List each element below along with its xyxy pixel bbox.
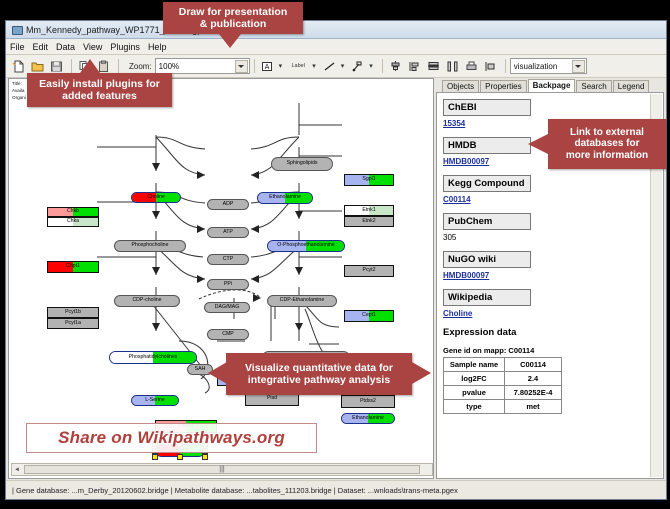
chevron-down-icon[interactable]: ▾ [341, 62, 345, 70]
print-icon[interactable] [463, 58, 480, 75]
metabolite-node-cdp-ethanolamine[interactable]: CDP-Ethanolamine [267, 295, 337, 307]
node-label: CMP [222, 332, 234, 337]
callout-links-arrow [528, 134, 548, 154]
line-tool-icon[interactable] [321, 58, 338, 75]
tab-properties[interactable]: Properties [480, 80, 526, 92]
pathway-canvas-panel[interactable]: Title: Availa Organi SphingolipidsCholin… [8, 78, 434, 479]
node-label: ATP [223, 230, 233, 235]
expr-value: 2.4 [505, 372, 562, 386]
zoom-label: Zoom: [129, 62, 152, 71]
node-label: Ethanolamine [269, 195, 301, 200]
align-center-icon[interactable] [387, 58, 404, 75]
tab-objects[interactable]: Objects [442, 80, 479, 92]
tab-search[interactable]: Search [576, 80, 611, 92]
node-label: Sgpl1 [362, 177, 375, 182]
pathway-available-label: Availa [12, 88, 26, 95]
screenshot-root: Mm_Kennedy_pathway_WP1771_45176.gpml Fil… [0, 0, 670, 509]
menu-item-help[interactable]: Help [148, 42, 167, 52]
node-label: Ptdss2 [360, 399, 376, 404]
metabolite-node-atp[interactable]: ATP [207, 227, 249, 238]
metabolite-node-phosphatidylcholines[interactable]: Phosphatidylcholines [109, 351, 197, 364]
callout-visualize-line2: integrative pathway analysis [248, 374, 390, 386]
receptor-tool-icon[interactable] [349, 58, 366, 75]
callout-plugins: Easily install plugins for added feature… [27, 73, 172, 107]
chevron-down-icon[interactable]: ▾ [369, 62, 373, 70]
callout-visualize-arrow-right [412, 362, 431, 384]
node-label: Etnk2 [362, 219, 375, 224]
node-label: DAG/MAG [215, 305, 240, 310]
status-text: | Gene database: ...m_Derby_20120602.bri… [6, 486, 458, 495]
tab-backpage[interactable]: Backpage [528, 79, 576, 92]
node-label: Chka [67, 219, 79, 224]
node-label: L-Serine [145, 398, 165, 403]
metabolite-node-phosphocholine[interactable]: Phosphocholine [114, 240, 186, 252]
open-folder-icon[interactable] [29, 58, 46, 75]
selection-handle[interactable] [152, 454, 158, 460]
toolbar-separator-2 [118, 59, 119, 73]
metabolite-node-o-phosphoethanolamine[interactable]: O-Phosphoethanolamine [267, 240, 345, 252]
pathway-title-label: Title: [12, 81, 26, 88]
metabolite-node-cdp-choline[interactable]: CDP-choline [114, 295, 180, 307]
callout-draw-arrow [219, 34, 241, 48]
node-label: CDP-Ethanolamine [280, 298, 324, 303]
gene-node-etnk1[interactable]: Etnk1 [344, 205, 394, 216]
expr-value: met [505, 400, 562, 414]
db-header-chebi: ChEBI [443, 99, 531, 116]
callout-plugins-line1: Easily install plugins for [39, 78, 160, 90]
gene-node-ptdss2[interactable]: Ptdss2 [341, 395, 395, 408]
node-label: Pcyt1a [65, 321, 81, 326]
callout-visualize-line1: Visualize quantitative data for [245, 362, 393, 374]
menu-item-file[interactable]: File [10, 42, 25, 52]
node-label: CTP [223, 257, 233, 262]
db-header-hmdb: HMDB [443, 137, 531, 154]
node-label: Chpt1 [66, 264, 80, 269]
zoom-value: 100% [159, 62, 179, 71]
node-label: Ethanolamine [352, 416, 384, 421]
pathway-organism-label: Organi [12, 95, 26, 102]
text-tool-icon[interactable]: A [259, 58, 276, 75]
title-bar: Mm_Kennedy_pathway_WP1771_45176.gpml [6, 21, 666, 39]
metabolite-node-sphingolipids[interactable]: Sphingolipids [271, 157, 333, 171]
toolbar-separator-5 [505, 59, 506, 73]
db-value-wikipedia[interactable]: Choline [443, 309, 649, 318]
toolbar-separator-4 [382, 59, 383, 73]
node-label: Chkb [67, 209, 79, 214]
share-banner: Share on Wikipathways.org [26, 423, 317, 453]
expr-value: C00114 [505, 358, 562, 372]
node-label: Sphingolipids [287, 161, 318, 166]
gene-node-sgpl1[interactable]: Sgpl1 [344, 174, 394, 186]
menu-item-edit[interactable]: Edit [33, 42, 49, 52]
status-bar: | Gene database: ...m_Derby_20120602.bri… [6, 480, 666, 499]
metabolite-node-ctp[interactable]: CTP [207, 254, 249, 265]
zoom-combo[interactable]: 100% [155, 58, 250, 74]
node-label: CDP-choline [132, 298, 161, 303]
gene-node-chkb[interactable]: Chkb [47, 207, 99, 217]
align-left-icon[interactable] [406, 58, 423, 75]
gene-node-cept1[interactable]: Cept1 [344, 310, 394, 322]
scroll-left-icon[interactable]: ◄ [12, 465, 22, 474]
node-label: Pcyt1b [65, 310, 81, 315]
metabolite-node-l-serine[interactable]: L-Serine [131, 395, 179, 406]
canvas-hscrollbar[interactable]: ◄ ||| [11, 463, 433, 476]
menu-item-view[interactable]: View [83, 42, 102, 52]
scroll-thumb[interactable]: ||| [24, 465, 420, 474]
pathway-canvas[interactable]: Title: Availa Organi SphingolipidsCholin… [9, 79, 433, 478]
app-icon [11, 24, 22, 35]
selection-handle[interactable] [202, 454, 208, 460]
tab-legend[interactable]: Legend [613, 80, 650, 92]
gene-node-etnk2[interactable]: Etnk2 [344, 216, 394, 227]
callout-visualize-arrow-left [208, 362, 227, 384]
db-value-nugo-wiki[interactable]: HMDB00097 [443, 271, 649, 280]
db-value-kegg-compound[interactable]: C00114 [443, 195, 649, 204]
node-label: Pcyt2 [363, 268, 376, 273]
side-panel-tabs: ObjectsPropertiesBackpageSearchLegend [436, 78, 664, 92]
db-header-nugo-wiki: NuGO wiki [443, 251, 531, 268]
callout-links-line2: databases for [574, 138, 639, 150]
gene-node-pcyt2[interactable]: Pcyt2 [344, 265, 394, 277]
db-header-pubchem: PubChem [443, 213, 531, 230]
db-value-pubchem: 305 [443, 233, 649, 242]
menu-item-data[interactable]: Data [56, 42, 75, 52]
table-row: typemet [444, 400, 562, 414]
scroll-grip-icon: ||| [219, 466, 224, 473]
chevron-down-icon[interactable]: ▾ [279, 62, 283, 70]
label-tool-text: Label [291, 63, 304, 69]
menu-bar: File Edit Data View Plugins Help [6, 39, 666, 55]
expression-table: Sample nameC00114log2FC2.4pvalue7.80252E… [443, 357, 562, 414]
node-label: ADP [223, 202, 234, 207]
label-tool-icon[interactable]: Label [287, 58, 309, 75]
visualization-combo[interactable]: visualization [510, 58, 587, 74]
expression-data-title: Expression data [443, 327, 649, 338]
distribute-icon[interactable] [444, 58, 461, 75]
callout-links-line3: more information [566, 150, 648, 162]
callout-draw-line2: & publication [200, 18, 267, 30]
save-icon[interactable] [48, 58, 65, 75]
node-label: Pisd [267, 396, 277, 401]
callout-plugins-arrow [80, 59, 100, 73]
visualization-value: visualization [514, 62, 558, 71]
node-label: PPi [224, 282, 232, 287]
metabolite-node-dag-mag[interactable]: DAG/MAG [204, 302, 250, 313]
node-label: Choline [147, 195, 165, 200]
metabolite-node-adp[interactable]: ADP [207, 199, 249, 210]
pathway-info-block: Title: Availa Organi [12, 81, 26, 102]
node-label: Phosphocholine [132, 243, 169, 248]
db-header-kegg-compound: Kegg Compound [443, 175, 531, 192]
metabolite-node-ethanolamine[interactable]: Ethanolamine [257, 192, 313, 204]
gene-node-chpt1[interactable]: Chpt1 [47, 261, 99, 273]
gene-id-line: Gene id on mapp: C00114 [443, 346, 649, 355]
selection-handle[interactable] [177, 454, 183, 460]
svg-text:A: A [264, 63, 269, 71]
expr-key: Sample name [444, 358, 505, 372]
toolbar-separator-3 [254, 59, 255, 73]
metabolite-node-ppi[interactable]: PPi [207, 279, 249, 290]
callout-draw: Draw for presentation & publication [163, 2, 303, 34]
table-row: log2FC2.4 [444, 372, 562, 386]
bring-front-icon[interactable] [482, 58, 499, 75]
node-label: SAH [195, 367, 206, 372]
chevron-down-icon[interactable] [572, 60, 585, 73]
callout-links-line1: Link to external [570, 127, 644, 139]
expr-value: 7.80252E-4 [505, 386, 562, 400]
expr-key: pvalue [444, 386, 505, 400]
menu-item-plugins[interactable]: Plugins [110, 42, 140, 52]
chevron-down-icon[interactable]: ▾ [312, 62, 316, 70]
callout-draw-line1: Draw for presentation [179, 6, 288, 18]
stack-vertical-icon[interactable] [425, 58, 442, 75]
toolbar-separator-1 [71, 59, 72, 73]
table-row: Sample nameC00114 [444, 358, 562, 372]
chevron-down-icon[interactable] [235, 60, 248, 73]
db-header-wikipedia: Wikipedia [443, 289, 531, 306]
expr-key: log2FC [444, 372, 505, 386]
gene-node-pcyt1b[interactable]: Pcyt1b [47, 307, 99, 318]
metabolite-node-ethanolamine[interactable]: Ethanolamine [341, 413, 395, 424]
expr-key: type [444, 400, 505, 414]
callout-visualize: Visualize quantitative data for integrat… [226, 353, 412, 395]
gene-node-chka[interactable]: Chka [47, 217, 99, 227]
metabolite-node-cmp[interactable]: CMP [207, 329, 249, 340]
new-file-icon[interactable] [10, 58, 27, 75]
node-label: Etnk1 [362, 208, 375, 213]
metabolite-node-choline[interactable]: Choline [131, 192, 181, 203]
gene-node-pcyt1a[interactable]: Pcyt1a [47, 318, 99, 329]
node-label: O-Phosphoethanolamine [277, 243, 334, 248]
table-row: pvalue7.80252E-4 [444, 386, 562, 400]
callout-plugins-line2: added features [62, 90, 137, 102]
node-label: Cept1 [362, 313, 376, 318]
callout-links: Link to external databases for more info… [548, 119, 666, 169]
node-label: Phosphatidylcholines [129, 355, 178, 360]
